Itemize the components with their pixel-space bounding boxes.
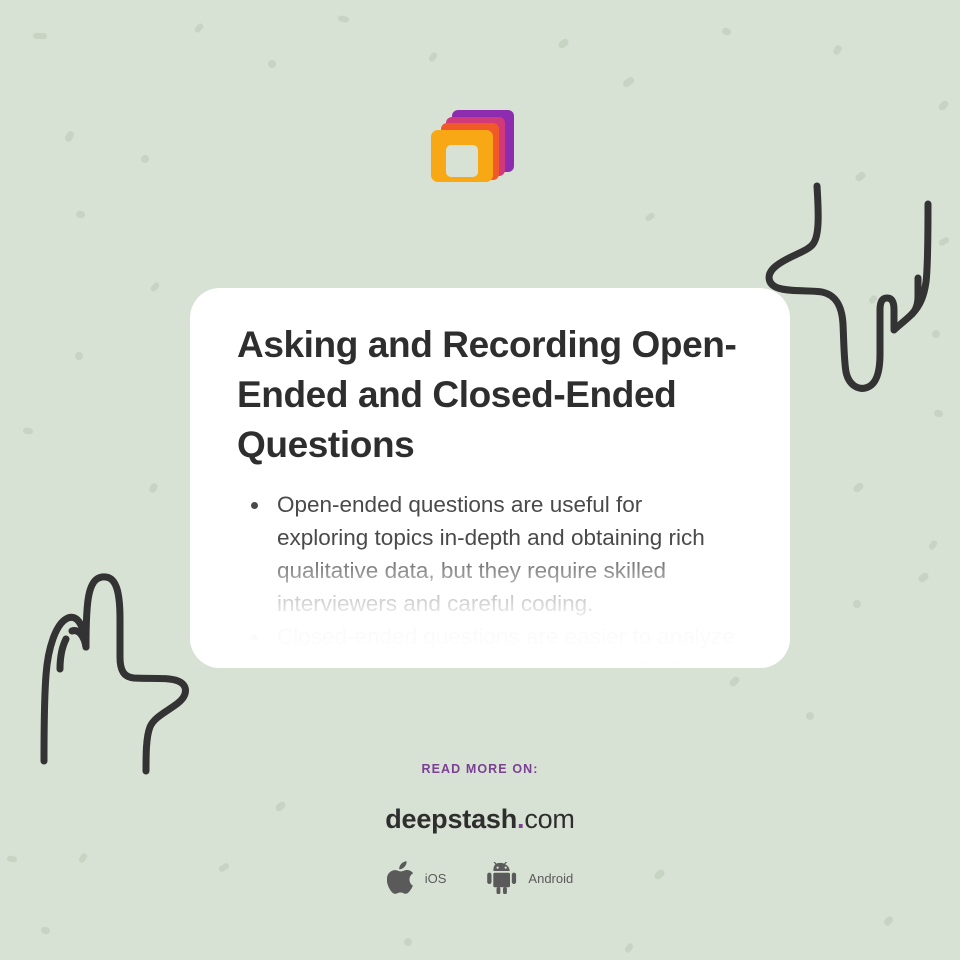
background-speck [193, 22, 204, 34]
ios-label: iOS [425, 871, 447, 886]
card-content: Asking and Recording Open-Ended and Clos… [190, 288, 790, 668]
background-speck [337, 15, 349, 23]
background-speck [805, 711, 815, 721]
deepstash-cube-logo [428, 100, 520, 192]
background-speck [33, 33, 47, 39]
background-speck [624, 942, 635, 954]
list-item: Open-ended questions are useful for expl… [237, 488, 738, 620]
background-speck [832, 44, 843, 56]
idea-card: Asking and Recording Open-Ended and Clos… [190, 288, 790, 668]
background-speck [403, 937, 414, 948]
background-speck [728, 675, 741, 688]
background-speck [428, 51, 439, 63]
android-label: Android [528, 871, 573, 886]
android-badge[interactable]: Android [486, 862, 573, 894]
page-title: Asking and Recording Open-Ended and Clos… [237, 320, 738, 470]
footer: READ MORE ON: deepstash.com iOS [0, 762, 960, 895]
background-speck [148, 482, 159, 494]
background-speck [622, 76, 636, 89]
background-speck [64, 130, 75, 143]
pointing-hand-right-icon [760, 178, 960, 403]
idea-bullet-list: Open-ended questions are useful for expl… [237, 488, 738, 668]
deepstash-share-card: Asking and Recording Open-Ended and Clos… [0, 0, 960, 960]
background-speck [938, 236, 951, 247]
background-speck [868, 294, 878, 305]
background-speck [23, 427, 34, 434]
background-speck [852, 481, 865, 494]
deepstash-wordmark: deepstash.com [0, 804, 960, 835]
background-speck [928, 539, 938, 551]
background-speck [140, 154, 150, 164]
pointing-hand-left-icon [28, 565, 208, 780]
background-speck [937, 99, 950, 112]
background-speck [75, 210, 85, 219]
background-speck [883, 915, 895, 927]
background-speck [721, 27, 732, 36]
background-speck [854, 170, 867, 182]
wordmark-name: deepstash [385, 804, 517, 834]
ios-badge[interactable]: iOS [387, 861, 447, 895]
background-speck [40, 926, 51, 935]
apple-icon [387, 861, 417, 895]
list-item: Closed-ended questions are easier to ana… [237, 620, 738, 668]
background-speck [931, 329, 942, 340]
background-speck [852, 599, 862, 609]
background-speck [917, 571, 930, 583]
wordmark-tld: com [524, 804, 574, 834]
app-store-badges: iOS Android [0, 861, 960, 895]
background-speck [644, 212, 656, 223]
background-speck [267, 59, 277, 69]
read-more-label: READ MORE ON: [0, 762, 960, 776]
android-icon [486, 862, 520, 894]
background-speck [74, 351, 84, 361]
background-speck [557, 37, 570, 49]
background-speck [933, 409, 943, 418]
background-speck [150, 281, 161, 293]
